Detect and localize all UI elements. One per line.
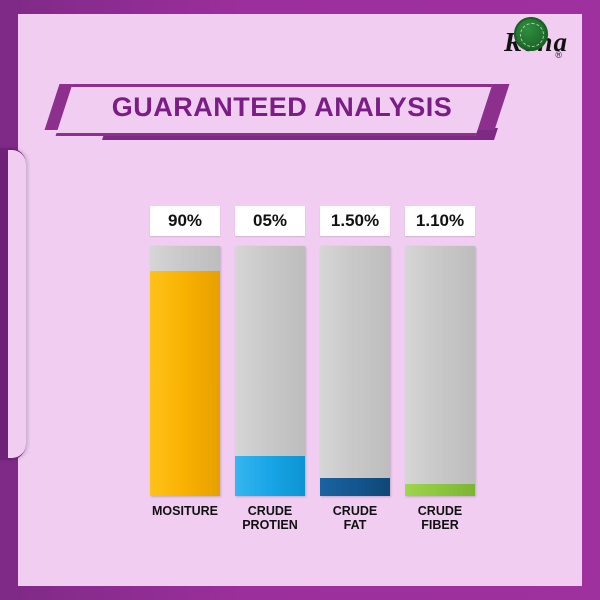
value-label: 05% [235, 206, 305, 236]
category-line-1: MOSITURE [144, 504, 226, 518]
bar-fill-crude-fat [320, 478, 390, 496]
registered-mark: ® [555, 50, 562, 60]
category-line-1: CRUDE [399, 504, 481, 518]
category-label-crude-protien: CRUDE PROTIEN [229, 504, 311, 532]
bar-track [235, 246, 305, 496]
bar-fill-crude-protien [235, 456, 305, 496]
value-label: 1.10% [405, 206, 475, 236]
bar-fill-moisture [150, 271, 220, 496]
banner: GUARANTEED ANALYSIS [52, 84, 512, 142]
bar-track [150, 246, 220, 496]
page-title: GUARANTEED ANALYSIS [52, 84, 512, 130]
category-line-2: FIBER [399, 518, 481, 532]
value-label: 90% [150, 206, 220, 236]
guaranteed-analysis-chart: 90% MOSITURE 05% CRUDE PROTIEN 1.50% [150, 206, 470, 516]
poster-canvas: Rona ® GUARANTEED ANALYSIS 90% MOSITURE … [0, 0, 600, 600]
seal-icon [514, 17, 548, 51]
category-label-crude-fat: CRUDE FAT [314, 504, 396, 532]
bar-track [320, 246, 390, 496]
category-line-2: PROTIEN [229, 518, 311, 532]
left-tab-inner-decoration [8, 150, 26, 458]
category-line-1: CRUDE [314, 504, 396, 518]
value-label: 1.50% [320, 206, 390, 236]
category-line-1: CRUDE [229, 504, 311, 518]
bar-track [405, 246, 475, 496]
category-label-crude-fiber: CRUDE FIBER [399, 504, 481, 532]
bar-fill-crude-fiber [405, 484, 475, 496]
category-line-2: FAT [314, 518, 396, 532]
category-label-moisture: MOSITURE [144, 504, 226, 518]
brand-logo: Rona ® [460, 20, 568, 64]
